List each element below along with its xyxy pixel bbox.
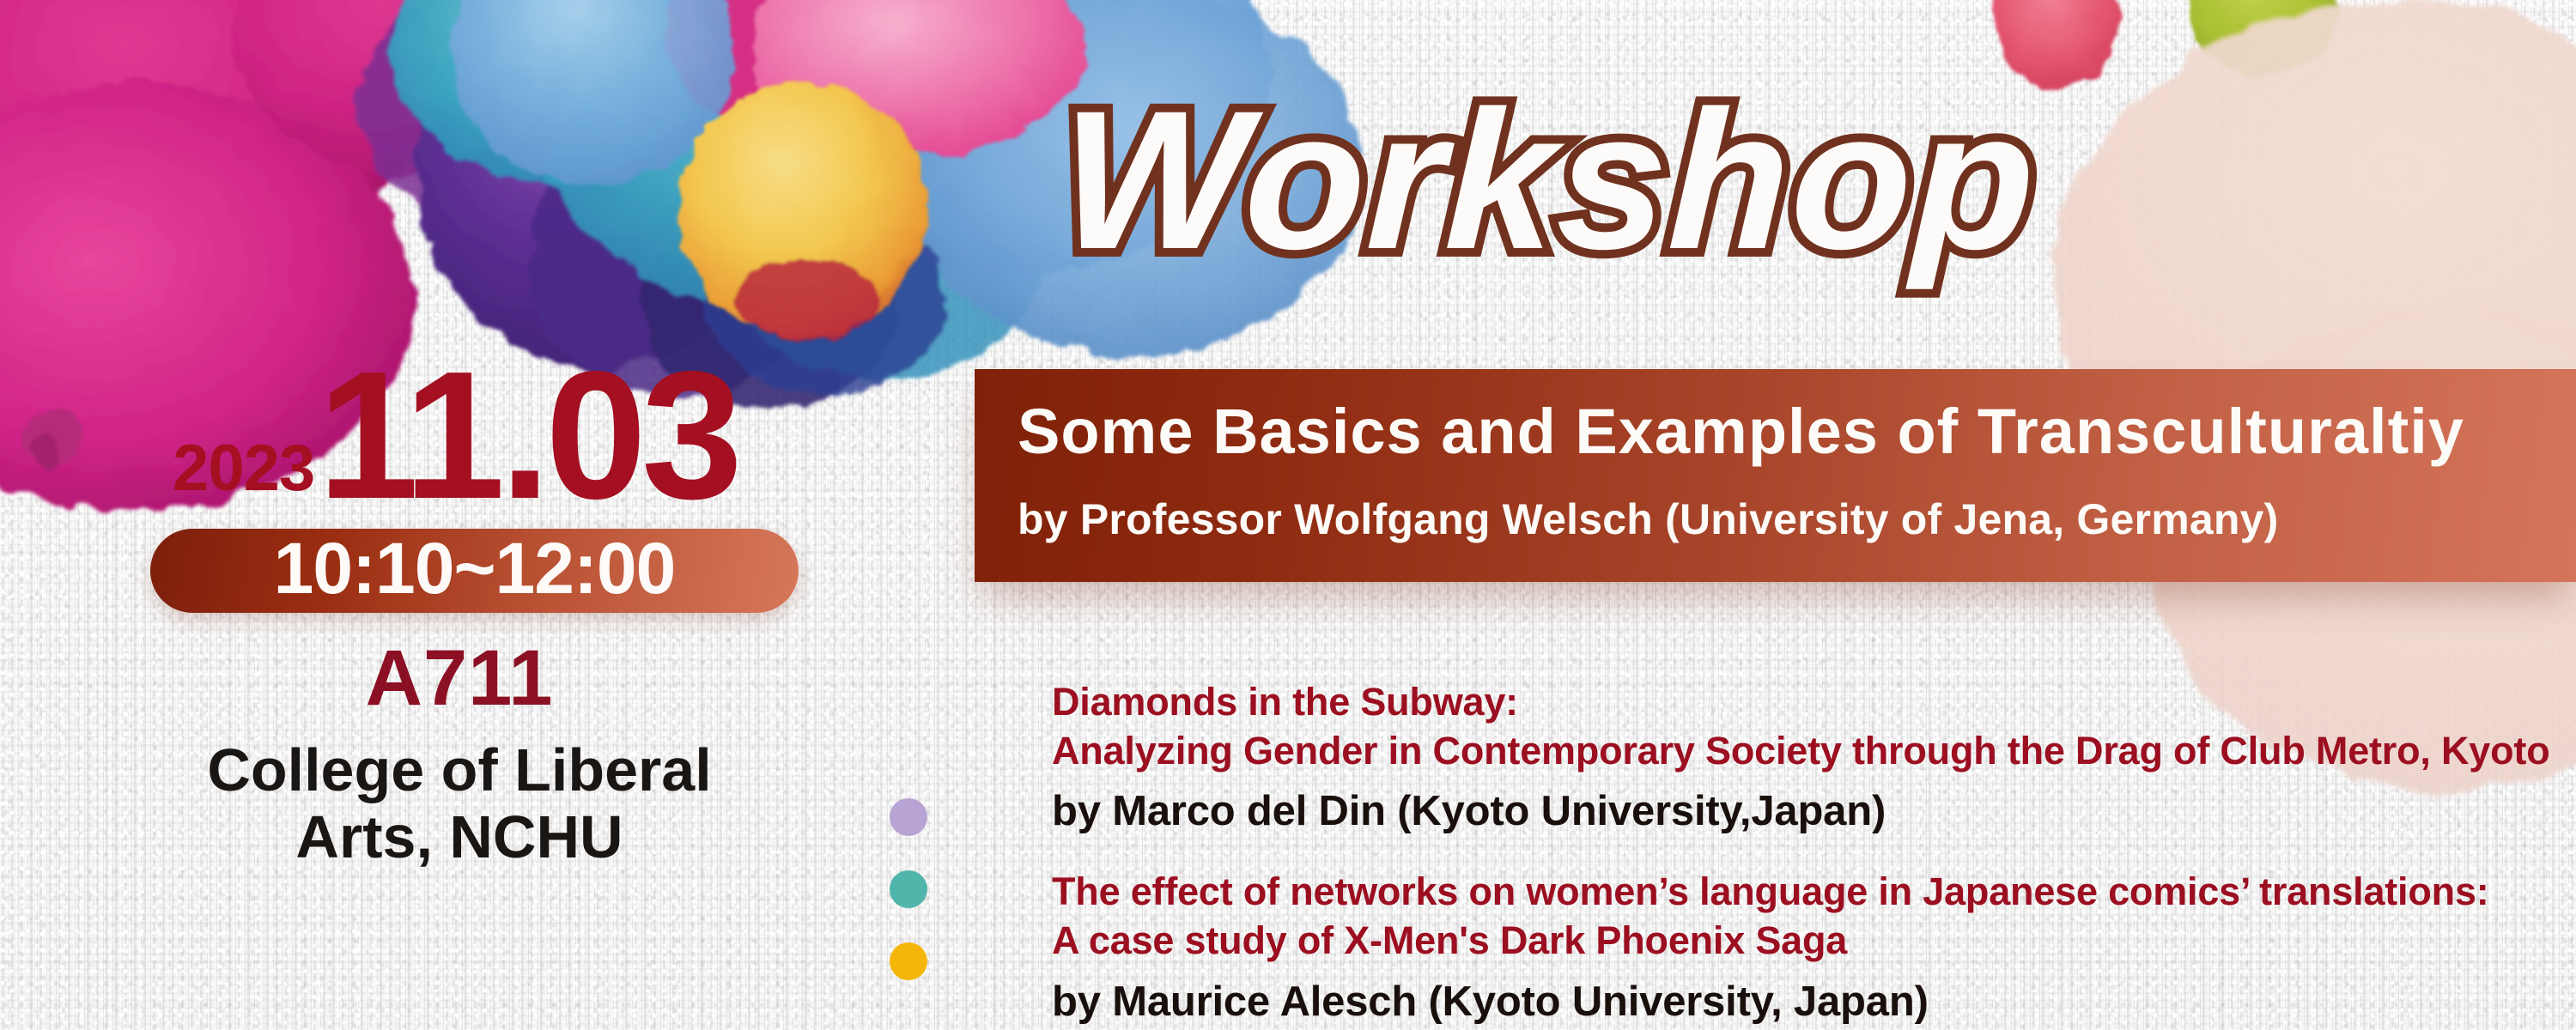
talk-author: by Maurice Alesch (Kyoto University, Jap…	[1052, 979, 2563, 1026]
talk-title-line-1: Diamonds in the Subway:	[1052, 678, 2563, 727]
venue-label: College of Liberal Arts, NCHU	[0, 736, 945, 871]
venue-line-2: Arts, NCHU	[0, 803, 919, 870]
time-pill-badge: 10:10~12:00	[150, 529, 799, 613]
date-info-column: 2023 11.03 10:10~12:00 A711 College of L…	[0, 360, 945, 871]
teal-dot-icon	[890, 870, 927, 908]
list-item: Diamonds in the Subway: Analyzing Gender…	[1052, 678, 2563, 835]
list-item: The effect of networks on women’s langua…	[1052, 868, 2563, 1025]
talk-title-line-1: The effect of networks on women’s langua…	[1052, 868, 2563, 917]
keynote-title: Some Basics and Examples of Transcultura…	[1018, 400, 2576, 463]
gold-dot-icon	[890, 942, 927, 980]
keynote-speaker: by Professor Wolfgang Welsch (University…	[1018, 498, 2576, 541]
time-range-label: 10:10~12:00	[274, 532, 676, 604]
room-number-label: A711	[0, 639, 945, 718]
date-row: 2023 11.03	[0, 360, 945, 510]
talk-title-line-2: A case study of X-Men's Dark Phoenix Sag…	[1052, 917, 2563, 966]
page-title: Workshop	[1057, 82, 2039, 279]
venue-line-1: College of Liberal	[0, 736, 919, 803]
workshop-poster: 2023 11.03 10:10~12:00 A711 College of L…	[0, 0, 2576, 1030]
day-month-label: 11.03	[318, 360, 738, 510]
talk-author: by Marco del Din (Kyoto University,Japan…	[1052, 789, 2563, 835]
year-label: 2023	[173, 436, 314, 501]
keynote-banner: Some Basics and Examples of Transcultura…	[975, 369, 2576, 582]
talk-title-line-2: Analyzing Gender in Contemporary Society…	[1052, 727, 2563, 776]
talk-list: Diamonds in the Subway: Analyzing Gender…	[1052, 678, 2563, 1026]
bullet-dot-column	[890, 798, 927, 980]
lavender-dot-icon	[890, 798, 927, 836]
